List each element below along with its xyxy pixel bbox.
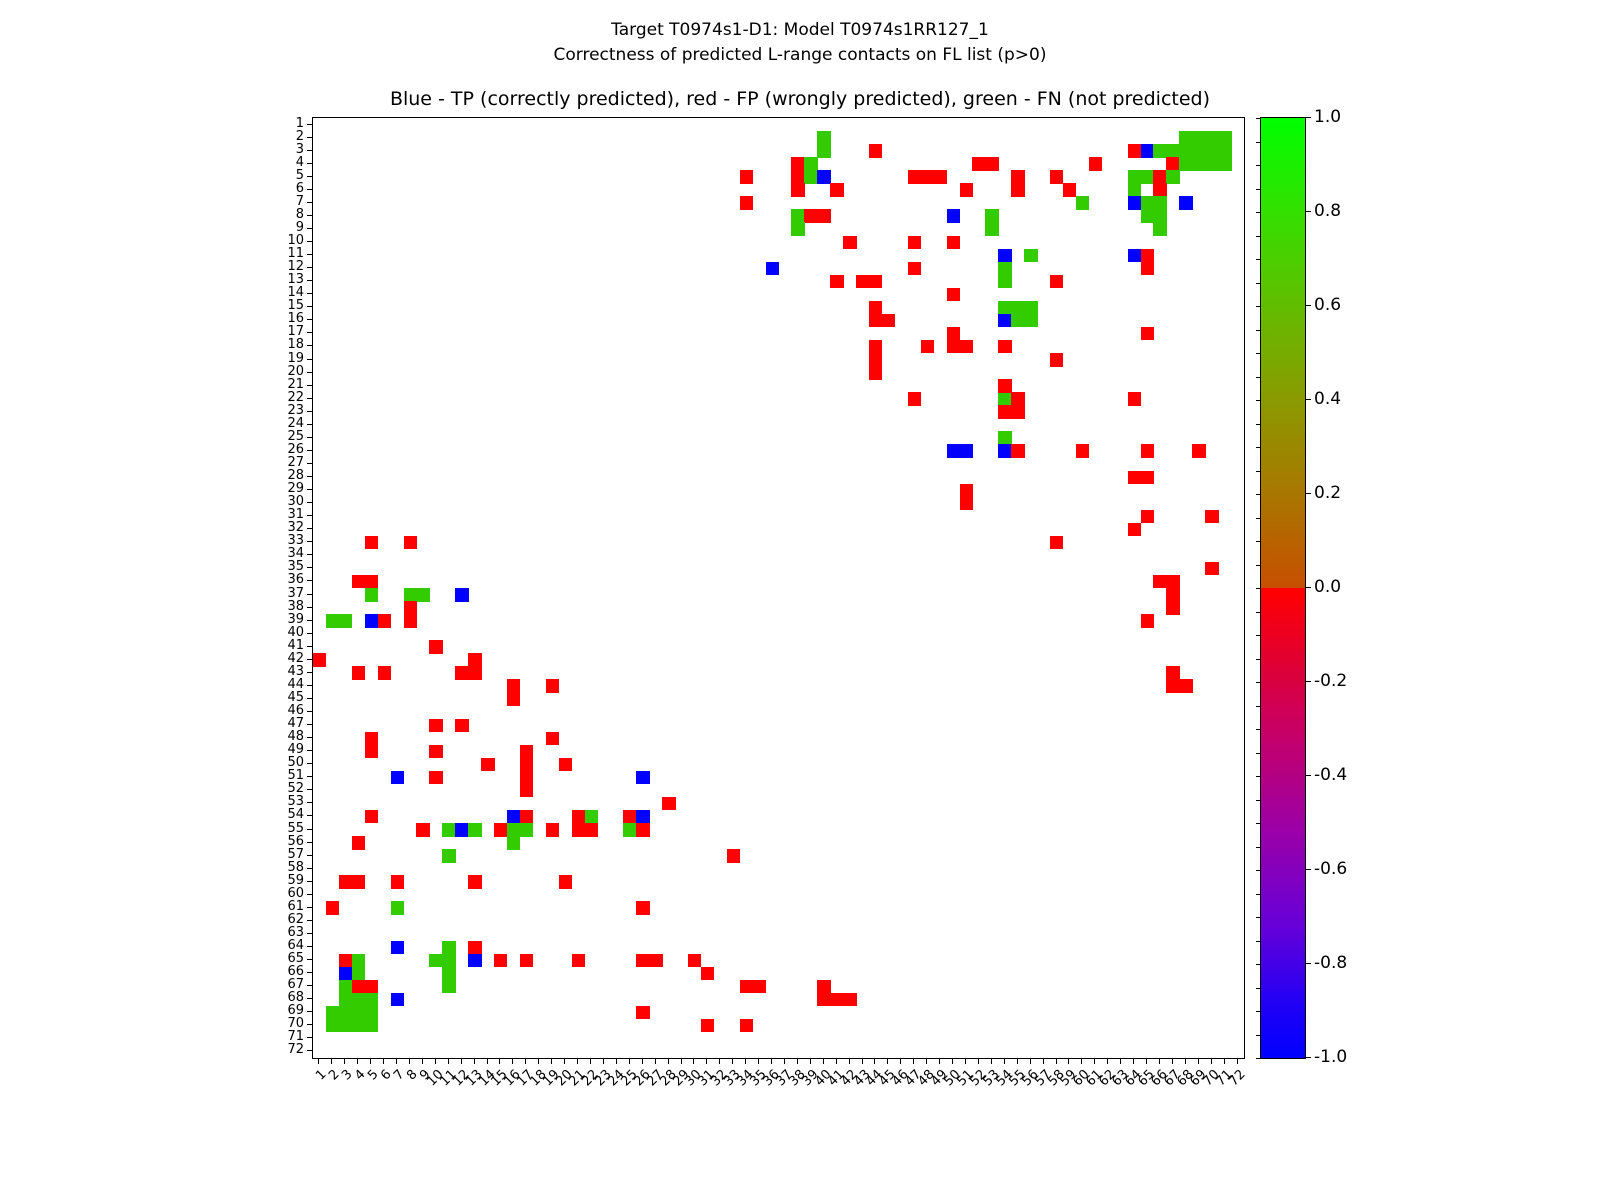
contact-cell bbox=[365, 745, 378, 759]
y-tick-mark bbox=[307, 567, 313, 568]
x-tick-mark bbox=[810, 1058, 811, 1064]
colorbar-tick-mark bbox=[1305, 305, 1311, 306]
contact-cell bbox=[520, 823, 533, 837]
x-tick-mark bbox=[1172, 1058, 1173, 1064]
contact-cell bbox=[998, 275, 1011, 289]
y-tick-mark bbox=[307, 137, 313, 138]
contact-cell bbox=[429, 954, 442, 968]
contact-cell bbox=[1166, 575, 1179, 589]
contact-cell bbox=[830, 183, 843, 197]
contact-cell bbox=[1050, 275, 1063, 289]
colorbar-minor-tick bbox=[1256, 729, 1261, 730]
contact-cell bbox=[636, 771, 649, 785]
contact-cell bbox=[352, 993, 365, 1007]
contact-cell bbox=[791, 222, 804, 236]
y-tick-mark bbox=[307, 894, 313, 895]
colorbar-minor-tick bbox=[1256, 236, 1261, 237]
contact-cell bbox=[869, 144, 882, 158]
y-tick-mark bbox=[307, 241, 313, 242]
contact-cell bbox=[429, 640, 442, 654]
x-tick-mark bbox=[525, 1058, 526, 1064]
contact-cell bbox=[623, 810, 636, 824]
contact-cell bbox=[1011, 301, 1024, 315]
contact-cell bbox=[1166, 170, 1179, 184]
contact-cell bbox=[1179, 679, 1192, 693]
contact-map-plot[interactable]: 1234567891011121314151617181920212223242… bbox=[312, 117, 1245, 1059]
y-tick-mark bbox=[307, 724, 313, 725]
contact-cell bbox=[960, 183, 973, 197]
y-tick-mark bbox=[307, 737, 313, 738]
contact-cell bbox=[391, 941, 404, 955]
x-tick-mark bbox=[1107, 1058, 1108, 1064]
x-tick-mark bbox=[913, 1058, 914, 1064]
colorbar-minor-tick bbox=[1256, 494, 1261, 495]
colorbar-tick-mark bbox=[1305, 1057, 1311, 1058]
contact-cell bbox=[1128, 523, 1141, 537]
contact-cell bbox=[869, 301, 882, 315]
contact-cell bbox=[365, 810, 378, 824]
x-tick-mark bbox=[1133, 1058, 1134, 1064]
contact-cell bbox=[1141, 249, 1154, 263]
contact-cell bbox=[546, 679, 559, 693]
contact-cell bbox=[1050, 353, 1063, 367]
contact-cell bbox=[520, 784, 533, 798]
y-tick-mark bbox=[307, 580, 313, 581]
contact-cell bbox=[1179, 131, 1192, 145]
x-tick-mark bbox=[926, 1058, 927, 1064]
y-tick-mark bbox=[307, 150, 313, 151]
y-tick-mark bbox=[307, 398, 313, 399]
colorbar-minor-tick bbox=[1256, 189, 1261, 190]
contact-cell bbox=[843, 993, 856, 1007]
colorbar-tick-mark bbox=[1305, 117, 1311, 118]
contact-cell bbox=[468, 941, 481, 955]
contact-cell bbox=[1153, 196, 1166, 210]
contact-cell bbox=[817, 209, 830, 223]
contact-cell bbox=[908, 236, 921, 250]
y-tick-mark bbox=[307, 463, 313, 464]
colorbar-minor-tick bbox=[1256, 847, 1261, 848]
y-tick-mark bbox=[307, 594, 313, 595]
y-tick-mark bbox=[307, 1050, 313, 1051]
y-tick-mark bbox=[307, 985, 313, 986]
contact-cell bbox=[572, 954, 585, 968]
y-tick-mark bbox=[307, 698, 313, 699]
x-tick-mark bbox=[1056, 1058, 1057, 1064]
y-tick-mark bbox=[307, 920, 313, 921]
y-tick-mark bbox=[307, 763, 313, 764]
contact-cell bbox=[791, 157, 804, 171]
contact-cell bbox=[559, 875, 572, 889]
contact-cell bbox=[688, 954, 701, 968]
x-tick-mark bbox=[849, 1058, 850, 1064]
contact-cell bbox=[1024, 301, 1037, 315]
contact-cell bbox=[908, 262, 921, 276]
contact-cell bbox=[404, 614, 417, 628]
y-tick-mark bbox=[307, 789, 313, 790]
contact-cell bbox=[585, 823, 598, 837]
y-tick-mark bbox=[307, 685, 313, 686]
contact-cell bbox=[947, 288, 960, 302]
contact-cell bbox=[339, 954, 352, 968]
contact-cell bbox=[442, 823, 455, 837]
colorbar-minor-tick bbox=[1256, 142, 1261, 143]
y-tick-mark bbox=[307, 607, 313, 608]
y-tick-mark bbox=[307, 502, 313, 503]
colorbar-minor-tick bbox=[1256, 941, 1261, 942]
colorbar-minor-tick bbox=[1256, 776, 1261, 777]
contact-cell bbox=[727, 849, 740, 863]
x-tick-mark bbox=[499, 1058, 500, 1064]
x-tick-mark bbox=[357, 1058, 358, 1064]
x-tick-mark bbox=[642, 1058, 643, 1064]
y-tick-mark bbox=[307, 959, 313, 960]
contact-cell bbox=[352, 1019, 365, 1033]
contact-cell bbox=[998, 379, 1011, 393]
contact-cell bbox=[365, 575, 378, 589]
colorbar-tick-mark bbox=[1305, 963, 1311, 964]
x-tick-mark bbox=[874, 1058, 875, 1064]
contact-cell bbox=[520, 745, 533, 759]
contact-cell bbox=[378, 666, 391, 680]
contact-cell bbox=[404, 588, 417, 602]
contact-cell bbox=[365, 536, 378, 550]
x-tick-mark bbox=[1094, 1058, 1095, 1064]
x-tick-mark bbox=[383, 1058, 384, 1064]
contact-cell bbox=[1153, 209, 1166, 223]
x-tick-mark bbox=[331, 1058, 332, 1064]
contact-cell bbox=[1089, 157, 1102, 171]
contact-cell bbox=[998, 301, 1011, 315]
colorbar-minor-tick bbox=[1256, 424, 1261, 425]
contact-cell bbox=[960, 484, 973, 498]
contact-cell bbox=[455, 823, 468, 837]
contact-cell bbox=[830, 275, 843, 289]
contact-cell bbox=[507, 692, 520, 706]
x-tick-mark bbox=[965, 1058, 966, 1064]
colorbar-minor-tick bbox=[1256, 682, 1261, 683]
contact-cell bbox=[455, 588, 468, 602]
colorbar-tick-mark bbox=[1305, 493, 1311, 494]
contact-cell bbox=[791, 183, 804, 197]
contact-cell bbox=[455, 719, 468, 733]
x-tick-mark bbox=[1237, 1058, 1238, 1064]
x-tick-mark bbox=[681, 1058, 682, 1064]
contact-cell bbox=[1166, 144, 1179, 158]
contact-cell bbox=[856, 275, 869, 289]
y-tick-mark bbox=[307, 776, 313, 777]
colorbar-tick-mark bbox=[1305, 775, 1311, 776]
contact-cell bbox=[365, 1006, 378, 1020]
colorbar-minor-tick bbox=[1256, 447, 1261, 448]
contact-cell bbox=[740, 980, 753, 994]
contact-cell bbox=[636, 810, 649, 824]
x-tick-mark bbox=[1030, 1058, 1031, 1064]
contact-cell bbox=[520, 810, 533, 824]
x-tick-mark bbox=[758, 1058, 759, 1064]
contact-cell bbox=[365, 1019, 378, 1033]
contact-cell bbox=[947, 209, 960, 223]
contact-cell bbox=[1141, 196, 1154, 210]
contact-cell bbox=[326, 901, 339, 915]
contact-cell bbox=[1141, 444, 1154, 458]
colorbar-tick-label: -0.2 bbox=[1314, 671, 1347, 691]
colorbar-minor-tick bbox=[1256, 471, 1261, 472]
x-tick-mark bbox=[952, 1058, 953, 1064]
y-tick-mark bbox=[307, 515, 313, 516]
contact-cell bbox=[960, 444, 973, 458]
contact-cell bbox=[1128, 392, 1141, 406]
contact-cell bbox=[623, 823, 636, 837]
contact-cell bbox=[1205, 144, 1218, 158]
contact-cell bbox=[326, 614, 339, 628]
contact-cell bbox=[1192, 157, 1205, 171]
contact-cell bbox=[1128, 196, 1141, 210]
y-tick-mark bbox=[307, 842, 313, 843]
contact-cell bbox=[365, 614, 378, 628]
contact-cell bbox=[817, 993, 830, 1007]
contact-cell bbox=[998, 314, 1011, 328]
contact-cell bbox=[442, 954, 455, 968]
colorbar-tick-label: -0.6 bbox=[1314, 859, 1347, 879]
colorbar-tick-label: 1.0 bbox=[1314, 107, 1341, 127]
y-tick-mark bbox=[307, 1011, 313, 1012]
contact-cell bbox=[365, 588, 378, 602]
x-tick-mark bbox=[1224, 1058, 1225, 1064]
x-tick-mark bbox=[797, 1058, 798, 1064]
y-tick-mark bbox=[307, 372, 313, 373]
contact-cell bbox=[1141, 170, 1154, 184]
x-tick-label-text: 6 bbox=[378, 1067, 394, 1083]
title-line-2: Correctness of predicted L-range contact… bbox=[0, 43, 1600, 68]
contact-cell bbox=[559, 758, 572, 772]
y-tick-mark bbox=[307, 124, 313, 125]
colorbar-tick-label: -1.0 bbox=[1314, 1047, 1347, 1067]
contact-cell bbox=[636, 901, 649, 915]
colorbar-minor-tick bbox=[1256, 1058, 1261, 1059]
colorbar-minor-tick bbox=[1256, 659, 1261, 660]
contact-cell bbox=[662, 797, 675, 811]
x-tick-mark bbox=[887, 1058, 888, 1064]
y-tick-mark bbox=[307, 868, 313, 869]
contact-cell bbox=[507, 679, 520, 693]
contact-cell bbox=[507, 836, 520, 850]
x-tick-label-text: 7 bbox=[391, 1067, 407, 1083]
contact-cell bbox=[313, 653, 326, 667]
contact-cell bbox=[352, 875, 365, 889]
colorbar-minor-tick bbox=[1256, 706, 1261, 707]
x-tick-mark bbox=[784, 1058, 785, 1064]
colorbar-minor-tick bbox=[1256, 377, 1261, 378]
x-tick-mark bbox=[629, 1058, 630, 1064]
x-tick-label-text: 3 bbox=[339, 1067, 355, 1083]
y-tick-mark bbox=[307, 176, 313, 177]
y-tick-mark bbox=[307, 345, 313, 346]
contact-cell bbox=[1141, 614, 1154, 628]
x-tick-mark bbox=[344, 1058, 345, 1064]
contact-cell bbox=[365, 993, 378, 1007]
figure-legend-caption: Blue - TP (correctly predicted), red - F… bbox=[0, 88, 1600, 110]
contact-cell bbox=[636, 823, 649, 837]
contact-cell bbox=[1218, 131, 1231, 145]
contact-cell bbox=[1141, 327, 1154, 341]
x-tick-mark bbox=[693, 1058, 694, 1064]
contact-cell bbox=[1179, 157, 1192, 171]
x-tick-mark bbox=[1004, 1058, 1005, 1064]
x-tick-mark bbox=[991, 1058, 992, 1064]
contact-cell bbox=[1128, 144, 1141, 158]
contact-cell bbox=[1192, 144, 1205, 158]
x-tick-mark bbox=[771, 1058, 772, 1064]
contact-cell bbox=[429, 745, 442, 759]
contact-cell bbox=[1050, 170, 1063, 184]
contact-cell bbox=[520, 954, 533, 968]
contact-cell bbox=[972, 157, 985, 171]
x-tick-label-text: 4 bbox=[352, 1067, 368, 1083]
contact-cell bbox=[339, 967, 352, 981]
contact-cell bbox=[1011, 314, 1024, 328]
contact-cell bbox=[1166, 588, 1179, 602]
contact-cell bbox=[1076, 196, 1089, 210]
contact-cell bbox=[869, 340, 882, 354]
x-tick-mark bbox=[668, 1058, 669, 1064]
colorbar-tick-mark bbox=[1305, 211, 1311, 212]
x-tick-mark bbox=[318, 1058, 319, 1064]
contact-cell bbox=[326, 1006, 339, 1020]
contact-cell bbox=[908, 392, 921, 406]
contact-cell bbox=[404, 536, 417, 550]
contact-cell bbox=[998, 444, 1011, 458]
contact-cell bbox=[1218, 157, 1231, 171]
colorbar-tick-label: 0.8 bbox=[1314, 201, 1341, 221]
contact-cell bbox=[507, 810, 520, 824]
contact-cell bbox=[1166, 601, 1179, 615]
x-tick-mark bbox=[577, 1058, 578, 1064]
contact-cell bbox=[1179, 196, 1192, 210]
y-tick-mark bbox=[307, 163, 313, 164]
contact-cell bbox=[352, 575, 365, 589]
x-tick-mark bbox=[978, 1058, 979, 1064]
colorbar-minor-tick bbox=[1256, 917, 1261, 918]
x-tick-mark bbox=[409, 1058, 410, 1064]
contact-cell bbox=[1153, 183, 1166, 197]
contact-cell bbox=[391, 993, 404, 1007]
x-tick-mark bbox=[551, 1058, 552, 1064]
y-tick-mark bbox=[307, 620, 313, 621]
contact-cell bbox=[1063, 183, 1076, 197]
contact-cell bbox=[636, 1006, 649, 1020]
contact-cell bbox=[804, 170, 817, 184]
contact-cell bbox=[352, 1006, 365, 1020]
contact-cell bbox=[908, 170, 921, 184]
x-tick-mark bbox=[1185, 1058, 1186, 1064]
contact-cell bbox=[339, 980, 352, 994]
contact-cell bbox=[960, 497, 973, 511]
colorbar-minor-tick bbox=[1256, 518, 1261, 519]
y-tick-mark bbox=[307, 1024, 313, 1025]
contact-cell bbox=[701, 1019, 714, 1033]
colorbar-minor-tick bbox=[1256, 588, 1261, 589]
contact-cell bbox=[791, 209, 804, 223]
contact-cell bbox=[830, 993, 843, 1007]
x-tick-mark bbox=[603, 1058, 604, 1064]
y-tick-mark bbox=[307, 359, 313, 360]
contact-cell bbox=[1153, 144, 1166, 158]
contact-cell bbox=[1024, 249, 1037, 263]
x-tick-mark bbox=[616, 1058, 617, 1064]
contact-cell bbox=[817, 170, 830, 184]
x-tick-mark bbox=[655, 1058, 656, 1064]
contact-cell bbox=[507, 823, 520, 837]
colorbar-tick-mark bbox=[1305, 869, 1311, 870]
contact-cell bbox=[1153, 222, 1166, 236]
contact-cell-layer bbox=[313, 118, 1244, 1058]
contact-cell bbox=[1166, 679, 1179, 693]
contact-cell bbox=[1128, 183, 1141, 197]
contact-cell bbox=[442, 980, 455, 994]
colorbar-minor-tick bbox=[1256, 800, 1261, 801]
contact-cell bbox=[339, 1019, 352, 1033]
colorbar-tick-label: 0.0 bbox=[1314, 577, 1341, 597]
colorbar-minor-tick bbox=[1256, 1011, 1261, 1012]
y-tick-mark bbox=[307, 528, 313, 529]
figure-title: Target T0974s1-D1: Model T0974s1RR127_1 … bbox=[0, 18, 1600, 68]
colorbar-minor-tick bbox=[1256, 353, 1261, 354]
contact-cell bbox=[404, 601, 417, 615]
contact-cell bbox=[998, 249, 1011, 263]
contact-cell bbox=[352, 967, 365, 981]
contact-cell bbox=[1192, 131, 1205, 145]
contact-cell bbox=[985, 209, 998, 223]
y-tick-mark bbox=[307, 215, 313, 216]
contact-cell bbox=[442, 967, 455, 981]
colorbar-tick-label: -0.8 bbox=[1314, 953, 1347, 973]
contact-cell bbox=[468, 653, 481, 667]
contact-cell bbox=[934, 170, 947, 184]
y-tick-mark bbox=[307, 554, 313, 555]
colorbar-minor-tick bbox=[1256, 753, 1261, 754]
contact-cell bbox=[1011, 392, 1024, 406]
contact-cell bbox=[520, 758, 533, 772]
x-tick-mark bbox=[706, 1058, 707, 1064]
x-tick-mark bbox=[862, 1058, 863, 1064]
colorbar-minor-tick bbox=[1256, 306, 1261, 307]
colorbar-minor-tick bbox=[1256, 894, 1261, 895]
x-tick-mark bbox=[448, 1058, 449, 1064]
contact-cell bbox=[1050, 536, 1063, 550]
x-tick-label-text: 8 bbox=[404, 1067, 420, 1083]
contact-cell bbox=[1011, 170, 1024, 184]
contact-cell bbox=[494, 823, 507, 837]
y-tick-mark bbox=[307, 450, 313, 451]
contact-cell bbox=[442, 941, 455, 955]
colorbar-minor-tick bbox=[1256, 330, 1261, 331]
colorbar-tick-mark bbox=[1305, 587, 1311, 588]
x-tick-mark bbox=[1068, 1058, 1069, 1064]
x-tick-mark bbox=[1146, 1058, 1147, 1064]
contact-cell bbox=[352, 666, 365, 680]
contact-cell bbox=[1141, 510, 1154, 524]
y-tick-mark bbox=[307, 907, 313, 908]
colorbar-minor-tick bbox=[1256, 823, 1261, 824]
contact-cell bbox=[468, 666, 481, 680]
x-tick-mark bbox=[1017, 1058, 1018, 1064]
contact-cell bbox=[1024, 314, 1037, 328]
y-tick-mark bbox=[307, 672, 313, 673]
y-tick-mark bbox=[307, 411, 313, 412]
y-tick-mark bbox=[307, 385, 313, 386]
y-tick-mark bbox=[307, 659, 313, 660]
